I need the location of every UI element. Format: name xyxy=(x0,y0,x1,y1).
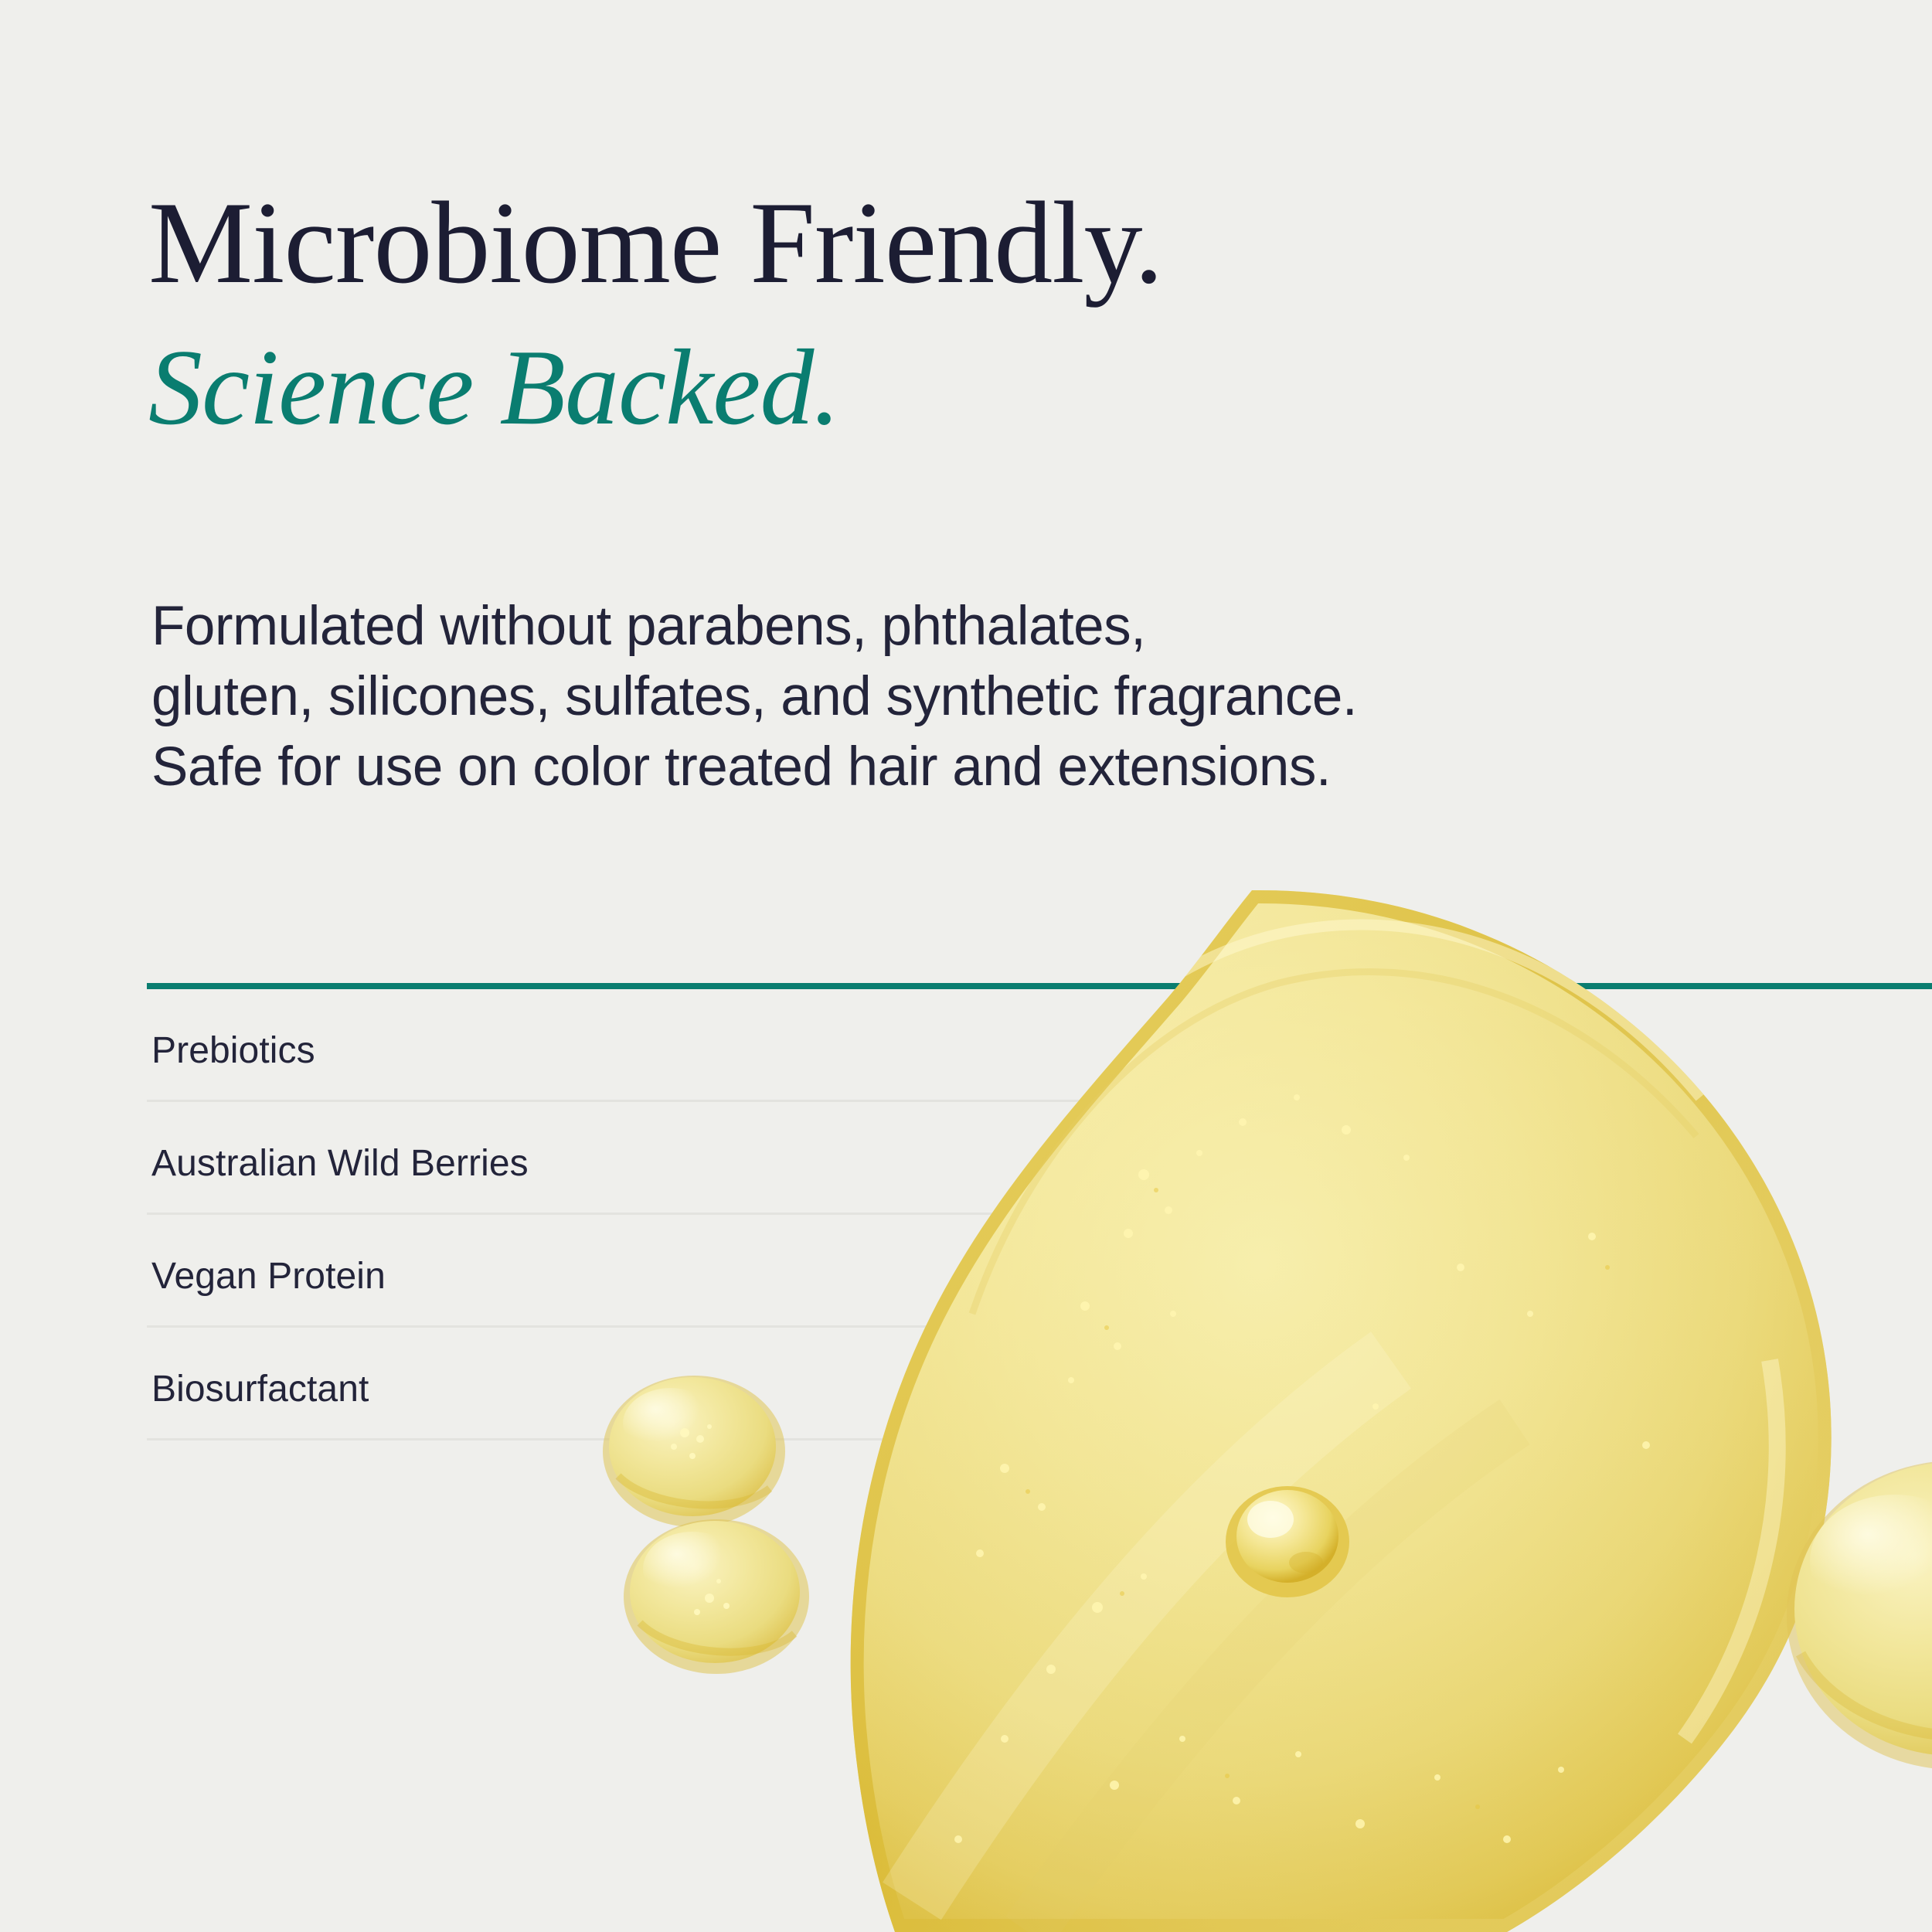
gel-droplet-small-lower xyxy=(624,1519,809,1674)
gel-bubble-center xyxy=(1226,1486,1349,1597)
ingredient-list: Prebiotics Australian Wild Berries Vegan… xyxy=(147,989,1615,1440)
promo-canvas: Microbiome Friendly. Science Backed. For… xyxy=(0,0,1932,1932)
list-item: Australian Wild Berries xyxy=(147,1102,1615,1215)
accent-divider-rule xyxy=(147,983,1932,989)
ingredient-label: Prebiotics xyxy=(151,1029,315,1072)
gel-droplet-right-edge xyxy=(1787,1461,1932,1770)
headline-secondary: Science Backed. xyxy=(148,334,1810,442)
list-item: Prebiotics xyxy=(147,989,1615,1102)
ingredient-label: Australian Wild Berries xyxy=(151,1142,529,1185)
page-title: Microbiome Friendly. Science Backed. xyxy=(148,184,1810,442)
body-paragraph: Formulated without parabens, phthalates,… xyxy=(151,592,1774,803)
ingredient-label: Vegan Protein xyxy=(151,1255,386,1298)
list-item: Biosurfactant xyxy=(147,1328,1615,1440)
body-line-1: Formulated without parabens, phthalates, xyxy=(151,592,1774,662)
body-line-3: Safe for use on color treated hair and e… xyxy=(151,733,1774,803)
ingredient-label: Biosurfactant xyxy=(151,1368,369,1410)
list-item: Vegan Protein xyxy=(147,1215,1615,1328)
headline-primary: Microbiome Friendly. xyxy=(148,184,1810,301)
body-line-2: gluten, silicones, sulfates, and synthet… xyxy=(151,662,1774,733)
